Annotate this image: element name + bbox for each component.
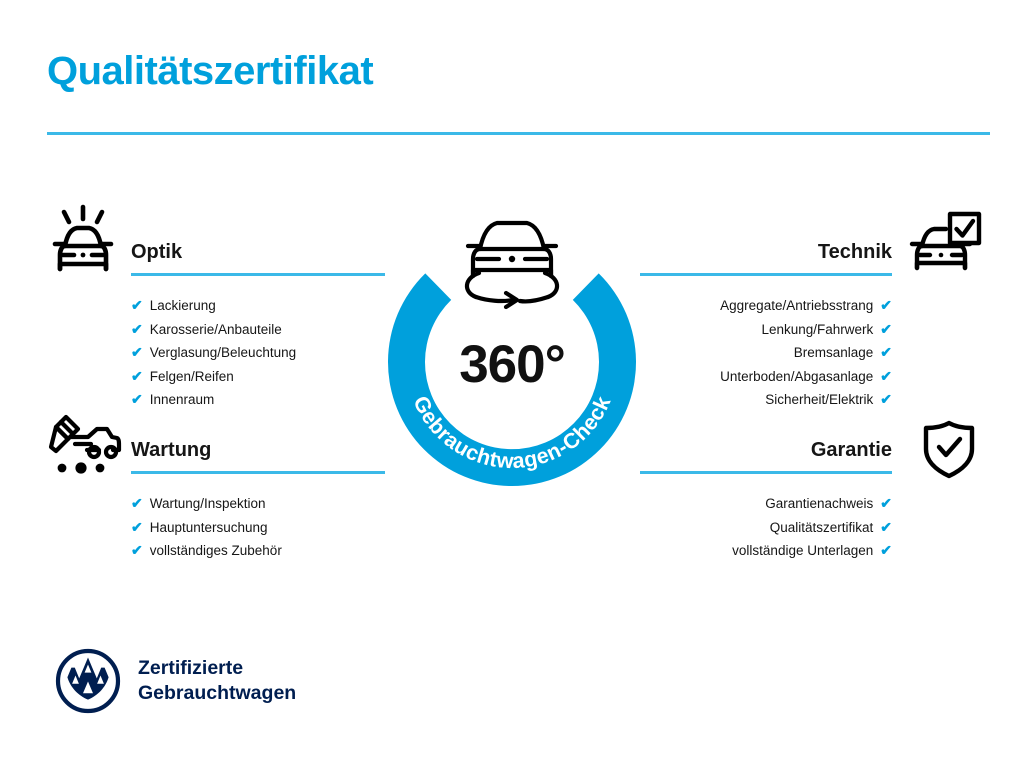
section-title: Optik (131, 238, 385, 266)
list-item: Lenkung/Fahrwerk ✔ (640, 318, 892, 342)
list-item: Aggregate/Antriebsstrang ✔ (640, 294, 892, 318)
list-item-label: vollständiges Zubehör (150, 539, 282, 563)
checklist-technik: Aggregate/Antriebsstrang ✔ Lenkung/Fahrw… (640, 294, 892, 412)
list-item: vollständige Unterlagen ✔ (640, 539, 892, 563)
badge-center-value: 360° (459, 335, 565, 394)
list-item: Sicherheit/Elektrik ✔ (640, 388, 892, 412)
list-item: ✔ Verglasung/Beleuchtung (131, 341, 385, 365)
check-icon: ✔ (880, 539, 892, 563)
section-header: Wartung (131, 436, 385, 478)
section-title: Wartung (131, 436, 385, 464)
car-shine-icon (47, 203, 119, 273)
check-icon: ✔ (131, 341, 143, 365)
checklist-optik: ✔ Lackierung ✔ Karosserie/Anbauteile ✔ V… (131, 294, 385, 412)
certificate-page: Qualitätszertifikat Optik (0, 0, 1024, 768)
section-header: Garantie (640, 436, 892, 478)
list-item-label: Karosserie/Anbauteile (150, 318, 282, 342)
checklist-garantie: Garantienachweis ✔ Qualitätszertifikat ✔… (640, 492, 892, 563)
car-rotate-360-icon (467, 223, 557, 307)
section-wartung: Wartung ✔ Wartung/Inspektion ✔ Hauptunte… (131, 436, 385, 563)
list-item-label: Sicherheit/Elektrik (765, 388, 873, 412)
list-item: Bremsanlage ✔ (640, 341, 892, 365)
check-icon: ✔ (131, 516, 143, 540)
list-item: ✔ Wartung/Inspektion (131, 492, 385, 516)
check-icon: ✔ (880, 388, 892, 412)
check-icon: ✔ (880, 318, 892, 342)
section-garantie: Garantie Garantienachweis ✔ Qualitätszer… (640, 436, 892, 563)
check-icon: ✔ (131, 539, 143, 563)
section-technik: Technik Aggregate/Antriebsstrang ✔ Lenku… (640, 238, 892, 412)
checklist-wartung: ✔ Wartung/Inspektion ✔ Hauptuntersuchung… (131, 492, 385, 563)
section-optik: Optik ✔ Lackierung ✔ Karosserie/Anbautei… (131, 238, 385, 412)
list-item-label: Lackierung (150, 294, 216, 318)
check-icon: ✔ (131, 294, 143, 318)
badge-360-gebrauchtwagen-check: Gebrauchtwagen-Check 360° (376, 196, 648, 490)
list-item: Qualitätszertifikat ✔ (640, 516, 892, 540)
section-title: Technik (640, 238, 892, 266)
list-item: Garantienachweis ✔ (640, 492, 892, 516)
list-item-label: Hauptuntersuchung (150, 516, 268, 540)
section-divider (131, 273, 385, 276)
vw-certified-used-cars-logo: Zertifizierte Gebrauchtwagen (55, 648, 296, 714)
list-item-label: Lenkung/Fahrwerk (761, 318, 873, 342)
check-icon: ✔ (880, 341, 892, 365)
footer-line-2: Gebrauchtwagen (138, 681, 296, 706)
shield-check-icon (918, 418, 980, 480)
check-icon: ✔ (131, 365, 143, 389)
vw-logo-icon (55, 648, 121, 714)
check-icon: ✔ (880, 365, 892, 389)
car-checkbox-icon (908, 210, 984, 272)
list-item-label: Felgen/Reifen (150, 365, 234, 389)
footer-line-1: Zertifizierte (138, 656, 296, 681)
list-item-label: Wartung/Inspektion (150, 492, 266, 516)
list-item: ✔ Karosserie/Anbauteile (131, 318, 385, 342)
section-divider (131, 471, 385, 474)
page-title: Qualitätszertifikat (47, 49, 373, 93)
check-icon: ✔ (131, 388, 143, 412)
section-title: Garantie (640, 436, 892, 464)
check-icon: ✔ (131, 318, 143, 342)
list-item-label: vollständige Unterlagen (732, 539, 873, 563)
section-header: Optik (131, 238, 385, 280)
footer-wordmark: Zertifizierte Gebrauchtwagen (138, 656, 296, 706)
section-divider (640, 273, 892, 276)
list-item-label: Qualitätszertifikat (770, 516, 874, 540)
check-icon: ✔ (131, 492, 143, 516)
car-service-pencil-icon (47, 414, 123, 476)
list-item-label: Aggregate/Antriebsstrang (720, 294, 873, 318)
header-divider (47, 132, 990, 135)
list-item-label: Verglasung/Beleuchtung (150, 341, 296, 365)
list-item: ✔ Hauptuntersuchung (131, 516, 385, 540)
list-item-label: Unterboden/Abgasanlage (720, 365, 873, 389)
list-item-label: Innenraum (150, 388, 215, 412)
section-divider (640, 471, 892, 474)
list-item: ✔ Innenraum (131, 388, 385, 412)
check-icon: ✔ (880, 294, 892, 318)
list-item: ✔ vollständiges Zubehör (131, 539, 385, 563)
list-item-label: Bremsanlage (794, 341, 874, 365)
section-header: Technik (640, 238, 892, 280)
list-item: ✔ Felgen/Reifen (131, 365, 385, 389)
list-item-label: Garantienachweis (765, 492, 873, 516)
list-item: ✔ Lackierung (131, 294, 385, 318)
check-icon: ✔ (880, 516, 892, 540)
check-icon: ✔ (880, 492, 892, 516)
list-item: Unterboden/Abgasanlage ✔ (640, 365, 892, 389)
